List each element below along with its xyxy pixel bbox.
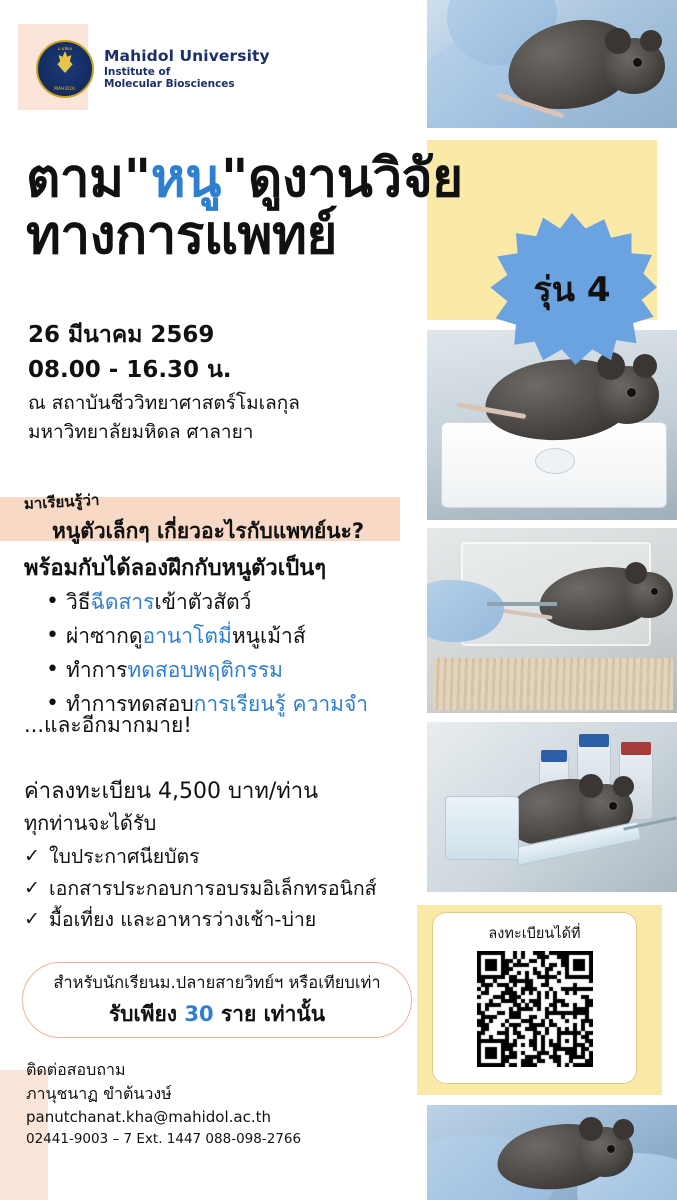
contact-phone[interactable]: 02441-9003 – 7 Ext. 1447 088-098-2766	[26, 1129, 416, 1150]
brand-text-block: Mahidol University Institute of Molecula…	[104, 47, 270, 90]
list-item: วิธีฉีดสารเข้าตัวสัตว์	[42, 585, 422, 619]
brand-institute-line2: Molecular Biosciences	[104, 78, 270, 90]
brand-university-name: Mahidol University	[104, 47, 270, 65]
strip-main-text: หนูตัวเล็กๆ เกี่ยวอะไรกับแพทย์นะ?	[52, 515, 364, 548]
headline-part-a: ตาม	[26, 148, 124, 209]
item-text-before: วิธี	[66, 590, 91, 614]
event-venue-line1: ณ สถาบันชีววิทยาศาสตร์โมเลกุล	[28, 389, 418, 418]
strip-small-text: มาเรียนรู้ว่า	[23, 488, 100, 516]
check-icon: ✓	[24, 841, 40, 872]
item-text-before: ทำการ	[66, 658, 127, 682]
seat-limit-text: รับเพียง 30 ราย เท่านั้น	[109, 998, 325, 1031]
activities-list: วิธีฉีดสารเข้าตัวสัตว์ ผ่าซากดูอานาโตมี่…	[42, 585, 422, 721]
contact-block: ติดต่อสอบถาม ภานุชนาฏ ขำต้นวงษ์ panutcha…	[26, 1058, 416, 1150]
event-date: 26 มีนาคม 2569	[28, 318, 418, 353]
fee-item-label: เอกสารประกอบการอบรมอิเล็กทรอนิกส์	[49, 877, 377, 900]
fee-price: ค่าลงทะเบียน 4,500 บาท/ท่าน	[24, 775, 414, 808]
crown-icon	[55, 51, 75, 73]
registration-qr-card[interactable]: ลงทะเบียนได้ที่	[432, 912, 637, 1084]
fee-block: ค่าลงทะเบียน 4,500 บาท/ท่าน ทุกท่านจะได้…	[24, 775, 414, 936]
list-item: ทำการทดสอบพฤติกรรม	[42, 653, 422, 687]
list-item: ผ่าซากดูอานาโตมี่หนูเม้าส์	[42, 619, 422, 653]
eligibility-text: สำหรับนักเรียนม.ปลายสายวิทย์ฯ หรือเทียบเ…	[53, 970, 380, 996]
photo-mouse-in-gloved-hand-bottom	[427, 1105, 677, 1200]
headline-line-2: ทางการแพทย์	[26, 207, 446, 264]
list-item: ✓มื้อเที่ยง และอาหารว่างเช้า-บ่าย	[24, 904, 414, 936]
fee-item-label: มื้อเที่ยง และอาหารว่างเช้า-บ่าย	[49, 908, 316, 931]
event-details: 26 มีนาคม 2569 08.00 - 16.30 น. ณ สถาบัน…	[28, 318, 418, 448]
event-venue-line2: มหาวิทยาลัยมหิดล ศาลายา	[28, 418, 418, 447]
photo-mouse-in-gloved-hand-top	[427, 0, 677, 128]
item-text-highlight: ฉีดสาร	[91, 590, 155, 614]
brand-logo: ม มหิดล MAHIDOL Mahidol University Insti…	[36, 40, 270, 98]
headline-quote-open: "	[124, 148, 151, 209]
activities-lead: พร้อมกับได้ลองฝึกกับหนูตัวเป็นๆ	[24, 550, 326, 585]
list-item: ✓เอกสารประกอบการอบรมอิเล็กทรอนิกส์	[24, 873, 414, 905]
poster-headline: ตาม"หนู"ดูงานวิจัย ทางการแพทย์	[26, 150, 446, 264]
qr-label: ลงทะเบียนได้ที่	[488, 922, 580, 945]
check-icon: ✓	[24, 873, 40, 904]
fee-included-list: ✓ใบประกาศนียบัตร ✓เอกสารประกอบการอบรมอิเ…	[24, 841, 414, 936]
edition-badge: รุ่น 4	[487, 213, 657, 368]
activities-more: ...และอีกมากมาย!	[24, 709, 192, 742]
item-text-highlight: อานาโตมี่	[143, 624, 232, 648]
headline-quote-close: "	[221, 148, 248, 209]
mahidol-seal-icon: ม มหิดล MAHIDOL	[36, 40, 94, 98]
item-text-before: ผ่าซากดู	[66, 624, 143, 648]
seat-limit-after: ราย เท่านั้น	[214, 1002, 326, 1026]
event-time: 08.00 - 16.30 น.	[28, 353, 418, 388]
headline-highlight-word: หนู	[151, 148, 221, 209]
fee-item-label: ใบประกาศนียบัตร	[49, 845, 200, 868]
headline-line-1: ตาม"หนู"ดูงานวิจัย	[26, 150, 446, 207]
seat-limit-number: 30	[184, 1002, 213, 1026]
photo-mouse-with-syringe-and-vials	[427, 722, 677, 892]
contact-heading: ติดต่อสอบถาม	[26, 1058, 416, 1082]
fee-subtitle: ทุกท่านจะได้รับ	[24, 808, 414, 838]
check-icon: ✓	[24, 904, 40, 935]
item-text-highlight: ทดสอบพฤติกรรม	[127, 658, 283, 682]
eligibility-note: สำหรับนักเรียนม.ปลายสายวิทย์ฯ หรือเทียบเ…	[22, 962, 412, 1038]
contact-person: ภานุชนาฏ ขำต้นวงษ์	[26, 1082, 416, 1106]
poster-root: ม มหิดล MAHIDOL Mahidol University Insti…	[0, 0, 677, 1200]
edition-badge-label: รุ่น 4	[487, 213, 657, 368]
seat-limit-before: รับเพียง	[109, 1002, 185, 1026]
contact-email[interactable]: panutchanat.kha@mahidol.ac.th	[26, 1106, 416, 1129]
list-item: ✓ใบประกาศนียบัตร	[24, 841, 414, 873]
item-text-after: หนูเม้าส์	[232, 624, 306, 648]
qr-code-icon[interactable]	[477, 951, 593, 1067]
seal-bottom-text: MAHIDOL	[38, 86, 92, 91]
brand-institute-line1: Institute of	[104, 66, 270, 78]
item-text-highlight: การเรียนรู้ ความจำ	[194, 692, 368, 716]
headline-part-b: ดูงานวิจัย	[248, 148, 463, 209]
photo-mouse-in-cage-handling	[427, 528, 677, 713]
item-text-after: เข้าตัวสัตว์	[154, 590, 251, 614]
seal-top-text: ม มหิดล	[38, 45, 92, 52]
